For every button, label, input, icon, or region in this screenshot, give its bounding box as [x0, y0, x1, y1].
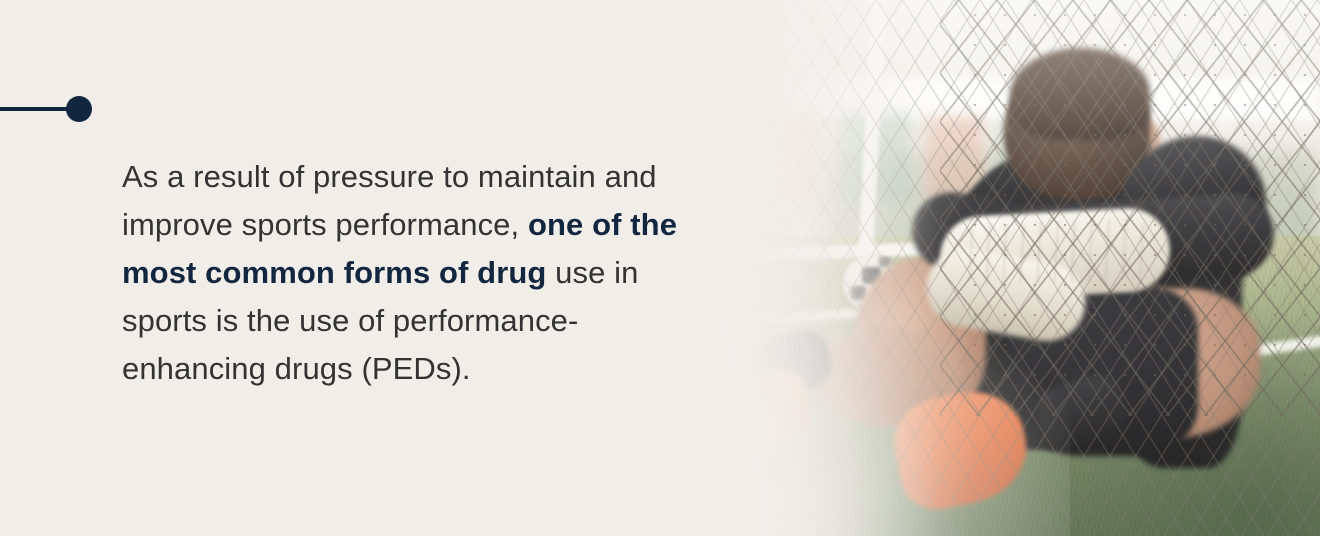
text-content-area: As a result of pressure to maintain and … [0, 0, 700, 536]
accent-line [0, 107, 70, 111]
goal-net-knots [960, 0, 1320, 386]
photo-scene [640, 0, 1320, 536]
quote-text: As a result of pressure to maintain and … [122, 153, 702, 393]
accent-dot [66, 96, 92, 122]
accent-marker [0, 96, 92, 122]
editorial-banner: As a result of pressure to maintain and … [0, 0, 1320, 536]
goalkeeper-photo [640, 0, 1320, 536]
